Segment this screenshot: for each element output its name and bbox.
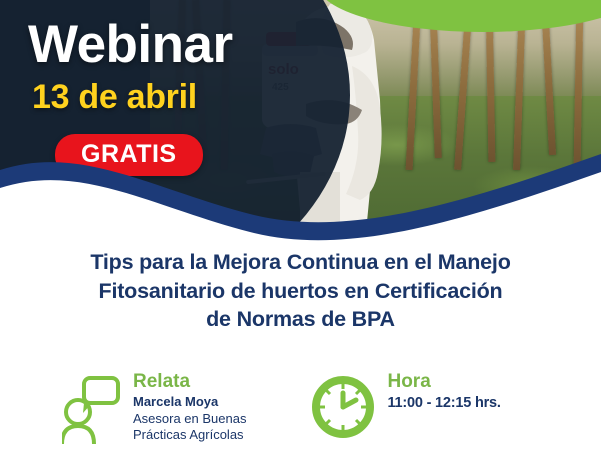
speaker-text: Relata Marcela Moya Asesora en Buenas Pr… xyxy=(133,372,246,444)
hero-section: solo 425 Webinar 13 de abril GRATIS xyxy=(0,0,601,232)
webinar-poster: solo 425 Webinar 13 de abril GRATIS xyxy=(0,0,601,450)
schedule-block: Hora 11:00 - 12:15 hrs. xyxy=(312,372,500,445)
hero-title: Webinar xyxy=(28,18,233,71)
info-row: Relata Marcela Moya Asesora en Buenas Pr… xyxy=(0,372,601,450)
free-badge: GRATIS xyxy=(55,134,203,176)
hero-text-group: Webinar 13 de abril GRATIS xyxy=(0,0,601,232)
speaker-name: Marcela Moya xyxy=(133,394,246,411)
title-line-3: de Normas de BPA xyxy=(0,305,601,334)
speaker-role-line-1: Asesora en Buenas xyxy=(133,411,246,428)
title-line-1: Tips para la Mejora Continua en el Manej… xyxy=(0,248,601,277)
speaker-block: Relata Marcela Moya Asesora en Buenas Pr… xyxy=(62,372,246,449)
clock-icon xyxy=(312,374,374,445)
title-line-2: Fitosanitario de huertos en Certificació… xyxy=(0,277,601,306)
speaker-heading: Relata xyxy=(133,372,246,392)
person-speech-bubble-icon xyxy=(62,374,120,449)
main-title: Tips para la Mejora Continua en el Manej… xyxy=(0,248,601,334)
schedule-text: Hora 11:00 - 12:15 hrs. xyxy=(387,372,500,413)
schedule-heading: Hora xyxy=(387,372,500,392)
schedule-time: 11:00 - 12:15 hrs. xyxy=(387,394,500,413)
speaker-role-line-2: Prácticas Agrícolas xyxy=(133,427,246,444)
hero-date: 13 de abril xyxy=(32,80,197,114)
